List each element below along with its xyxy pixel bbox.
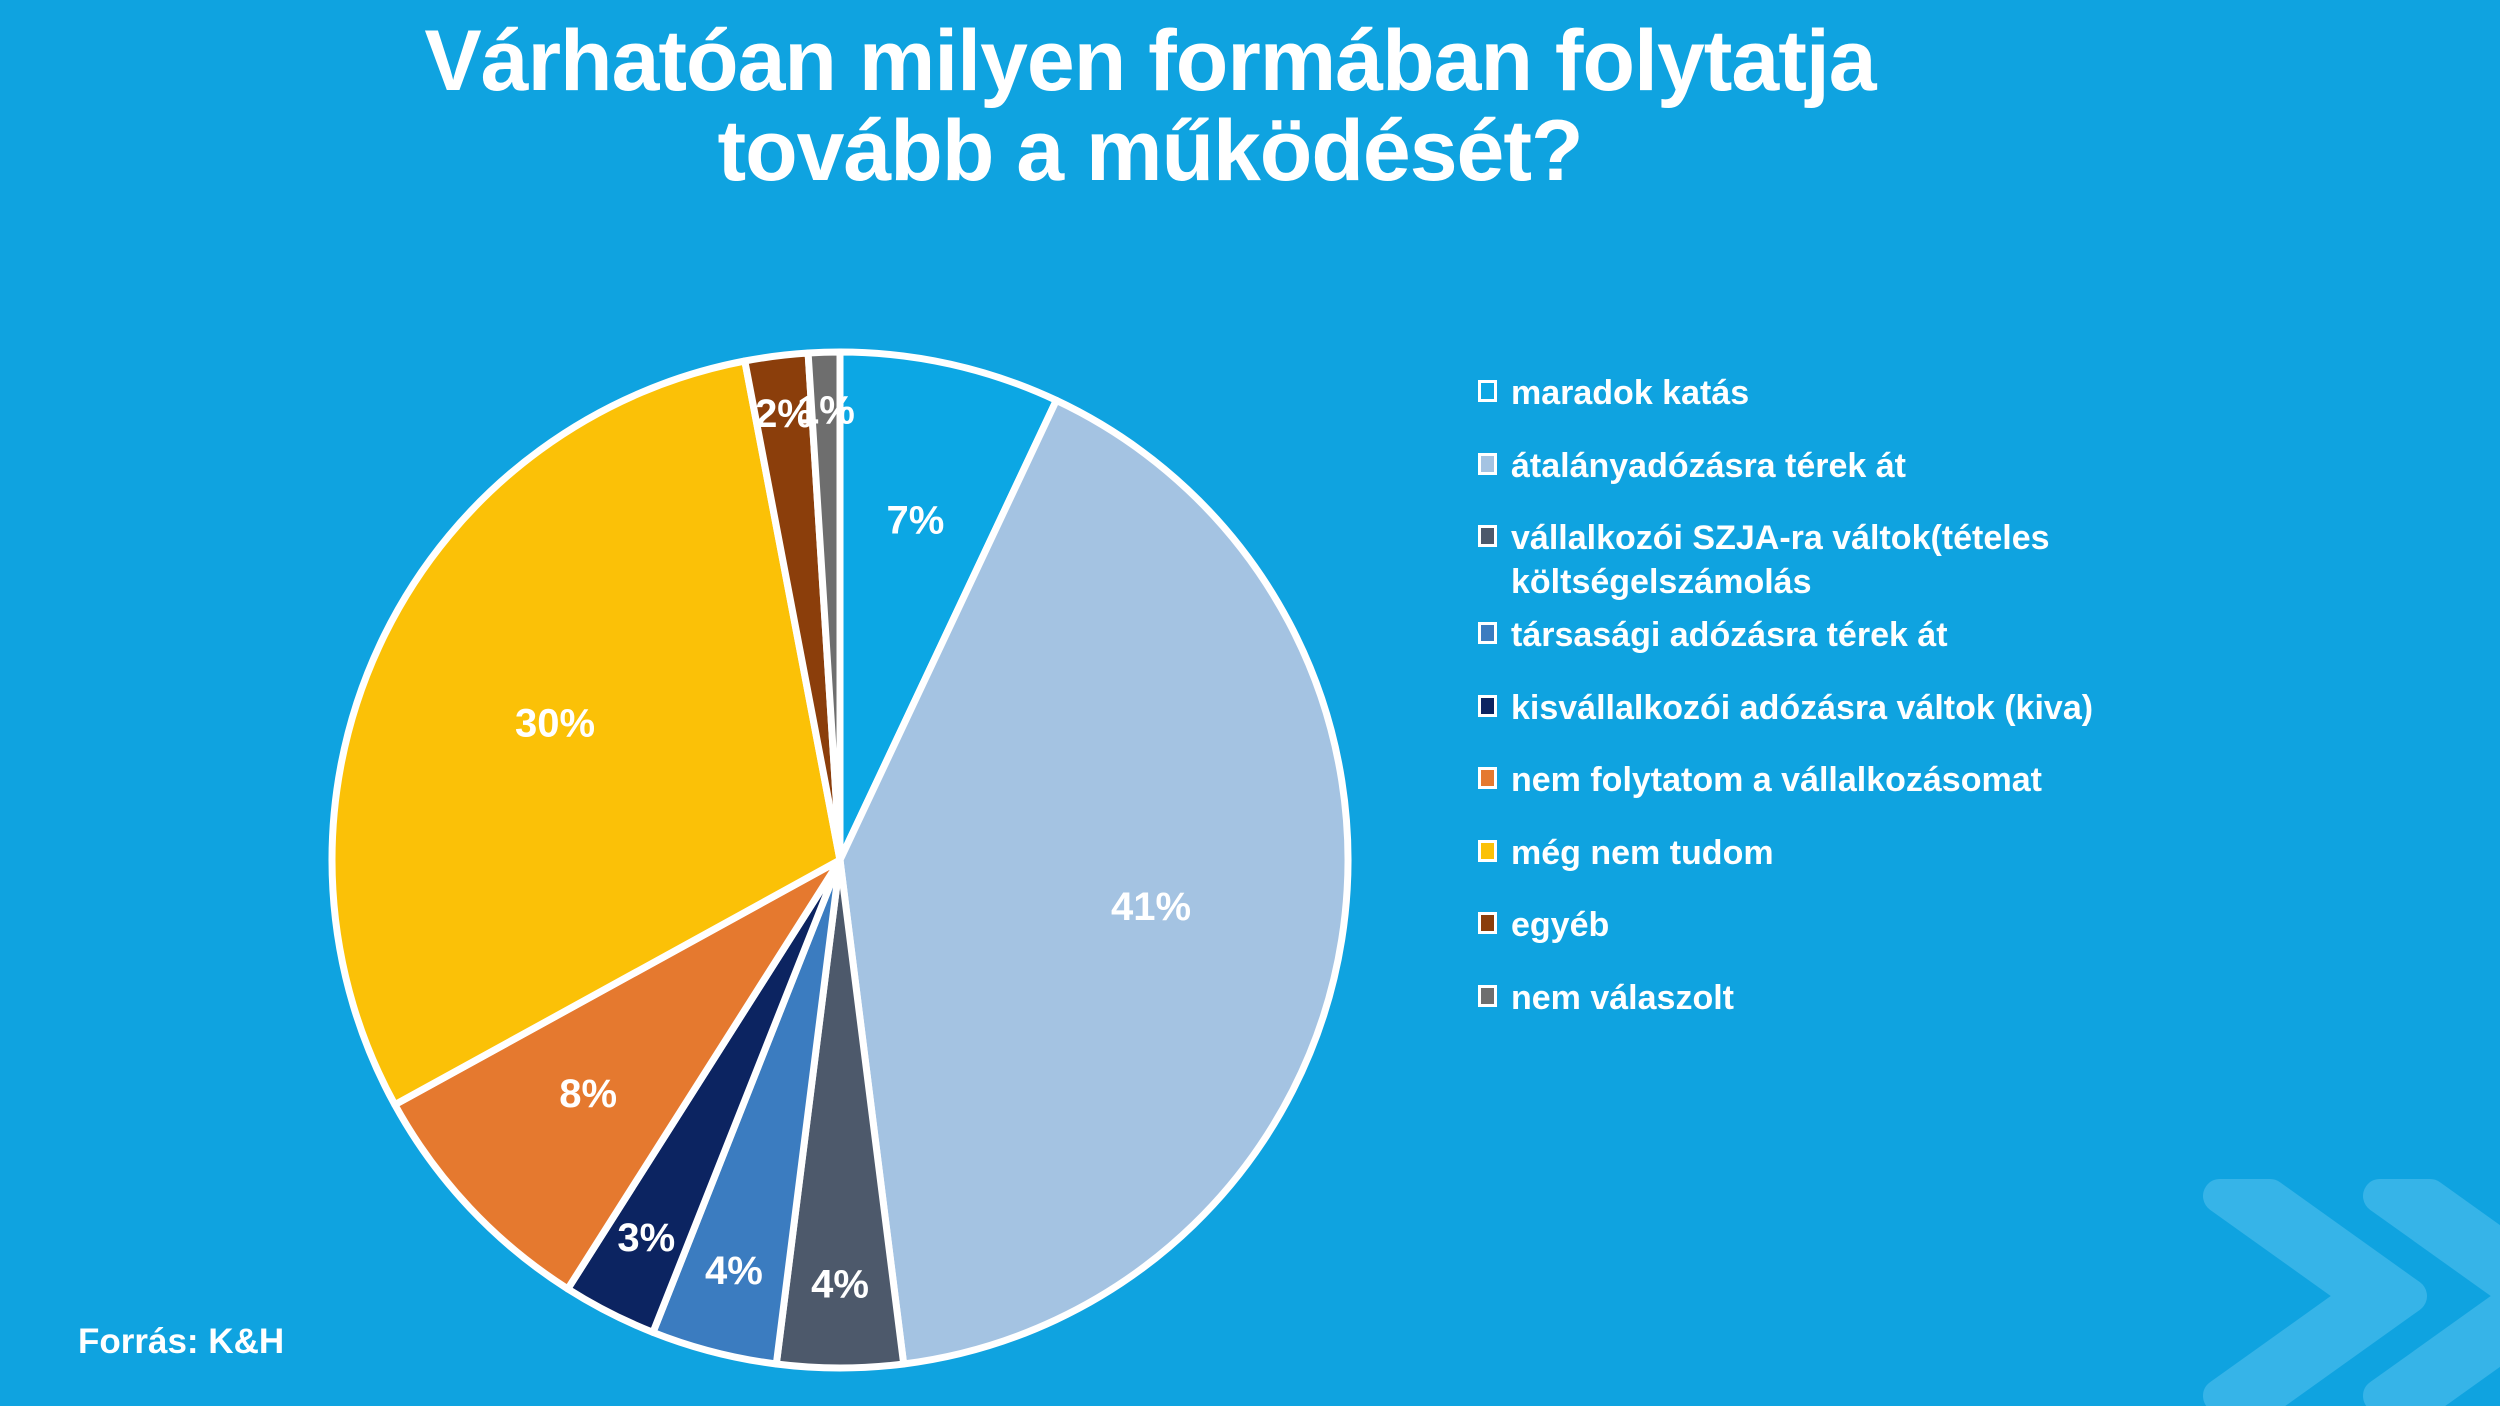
legend-item-label: nem válaszolt bbox=[1511, 977, 1734, 1021]
legend-item-label: vállalkozói SZJA-ra váltok(tételes költs… bbox=[1511, 517, 2050, 604]
pie-chart: 7%41%4%4%3%8%30%2%1% bbox=[230, 330, 1390, 1390]
pie-slice-label: 4% bbox=[811, 1262, 869, 1306]
legend-item[interactable]: egyéb bbox=[1478, 904, 2438, 948]
legend-item-label: még nem tudom bbox=[1511, 832, 1774, 876]
chevron-watermark-icon bbox=[2040, 1166, 2500, 1406]
legend-swatch-icon bbox=[1478, 767, 1497, 789]
legend-swatch-icon bbox=[1478, 525, 1497, 547]
pie-slice-label: 4% bbox=[705, 1249, 763, 1293]
legend-item[interactable]: nem válaszolt bbox=[1478, 977, 2438, 1021]
pie-chart-svg: 7%41%4%4%3%8%30%2%1% bbox=[230, 330, 1390, 1390]
source-note: Forrás: K&H bbox=[78, 1322, 284, 1362]
legend-item[interactable]: vállalkozói SZJA-ra váltok(tételes költs… bbox=[1478, 517, 2438, 604]
pie-slice-label: 30% bbox=[515, 701, 595, 745]
legend-item[interactable]: kisvállalkozói adózásra váltok (kiva) bbox=[1478, 687, 2438, 731]
legend-swatch-icon bbox=[1478, 695, 1497, 717]
legend-item-label: átalányadózásra térek át bbox=[1511, 445, 1906, 489]
legend-item-label: maradok katás bbox=[1511, 372, 1749, 416]
legend-item[interactable]: nem folytatom a vállalkozásomat bbox=[1478, 759, 2438, 803]
legend-swatch-icon bbox=[1478, 453, 1497, 475]
legend-swatch-icon bbox=[1478, 380, 1497, 402]
legend-swatch-icon bbox=[1478, 985, 1497, 1007]
legend-item-label: társasági adózásra térek át bbox=[1511, 614, 1948, 658]
pie-slice-label: 41% bbox=[1111, 885, 1191, 929]
legend-item-label: egyéb bbox=[1511, 904, 1609, 948]
legend-swatch-icon bbox=[1478, 912, 1497, 934]
legend-item-label: nem folytatom a vállalkozásomat bbox=[1511, 759, 2042, 803]
legend-item[interactable]: társasági adózásra térek át bbox=[1478, 614, 2438, 658]
legend-swatch-icon bbox=[1478, 622, 1497, 644]
legend-item[interactable]: még nem tudom bbox=[1478, 832, 2438, 876]
pie-slices-group bbox=[332, 352, 1348, 1368]
legend-item[interactable]: maradok katás bbox=[1478, 372, 2438, 416]
pie-slice-label: 3% bbox=[617, 1216, 675, 1260]
legend-item[interactable]: átalányadózásra térek át bbox=[1478, 445, 2438, 489]
pie-slice-label: 1% bbox=[797, 389, 855, 433]
legend-item-label: kisvállalkozói adózásra váltok (kiva) bbox=[1511, 687, 2093, 731]
pie-slice-label: 7% bbox=[886, 498, 944, 542]
chart-legend: maradok katásátalányadózásra térek átvál… bbox=[1478, 372, 2438, 1049]
pie-slice-label: 8% bbox=[559, 1072, 617, 1116]
page-title: Várhatóan milyen formában folytatja tová… bbox=[0, 16, 2300, 197]
legend-swatch-icon bbox=[1478, 840, 1497, 862]
